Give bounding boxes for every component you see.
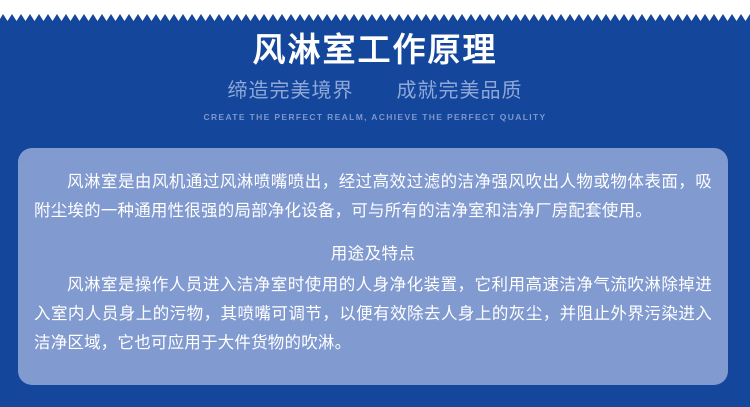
product-info-banner: 风淋室工作原理 缔造完美境界 成就完美品质 CREATE THE PERFECT… [0,0,750,407]
subtitle-left: 缔造完美境界 [228,78,354,104]
subtitle-right: 成就完美品质 [396,78,522,104]
paragraph-one: 风淋室是由风机通过风淋喷嘴喷出，经过高效过滤的洁净强风吹出人物或物体表面，吸附尘… [34,168,712,226]
sawtooth-edge-icon [0,0,750,22]
paragraph-two: 风淋室是操作人员进入洁净室时使用的人身净化装置，它利用高速洁净气流吹淋除掉进入室… [34,271,712,358]
content-panel: 风淋室是由风机通过风淋喷嘴喷出，经过高效过滤的洁净强风吹出人物或物体表面，吸附尘… [18,148,728,385]
banner-header: 风淋室工作原理 缔造完美境界 成就完美品质 CREATE THE PERFECT… [0,28,750,123]
page-title: 风淋室工作原理 [0,28,750,72]
subtitle-row: 缔造完美境界 成就完美品质 [0,78,750,106]
section-heading: 用途及特点 [34,240,712,269]
english-tagline: CREATE THE PERFECT REALM, ACHIEVE THE PE… [0,111,750,123]
